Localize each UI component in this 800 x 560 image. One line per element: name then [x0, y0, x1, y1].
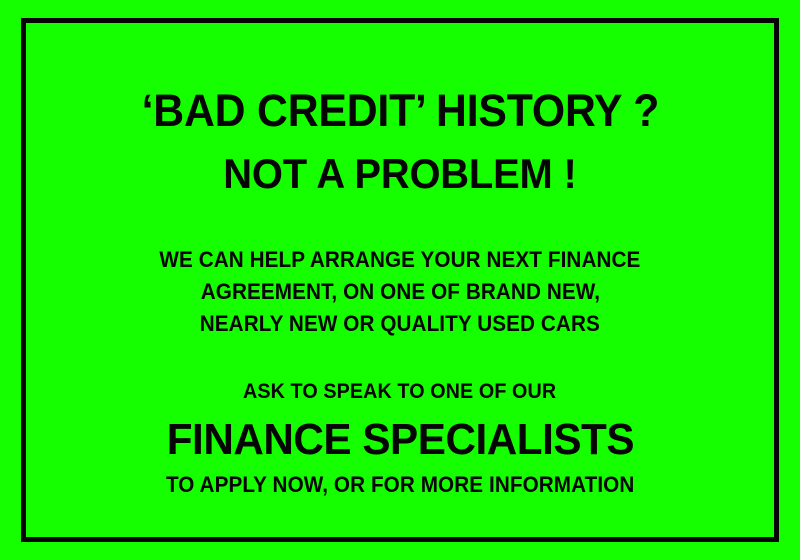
poster-content: ‘BAD CREDIT’ HISTORY ? NOT A PROBLEM ! W… [0, 0, 800, 560]
headline-line-1: ‘BAD CREDIT’ HISTORY ? [141, 88, 659, 133]
body-line-1: WE CAN HELP ARRANGE YOUR NEXT FINANCE [159, 249, 640, 271]
cta-headline-finance-specialists: FINANCE SPECIALISTS [166, 418, 633, 462]
cta-subtext-apply-now: TO APPLY NOW, OR FOR MORE INFORMATION [166, 474, 634, 496]
call-to-action-block: ASK TO SPEAK TO ONE OF OUR FINANCE SPECI… [151, 381, 649, 496]
headline-line-2: NOT A PROBLEM ! [223, 153, 576, 195]
body-line-3: NEARLY NEW OR QUALITY USED CARS [200, 313, 600, 335]
body-paragraph: WE CAN HELP ARRANGE YOUR NEXT FINANCE AG… [144, 249, 656, 345]
advertisement-poster: ‘BAD CREDIT’ HISTORY ? NOT A PROBLEM ! W… [0, 0, 800, 560]
cta-lead-text: ASK TO SPEAK TO ONE OF OUR [243, 381, 556, 402]
body-line-2: AGREEMENT, ON ONE OF BRAND NEW, [200, 281, 599, 303]
